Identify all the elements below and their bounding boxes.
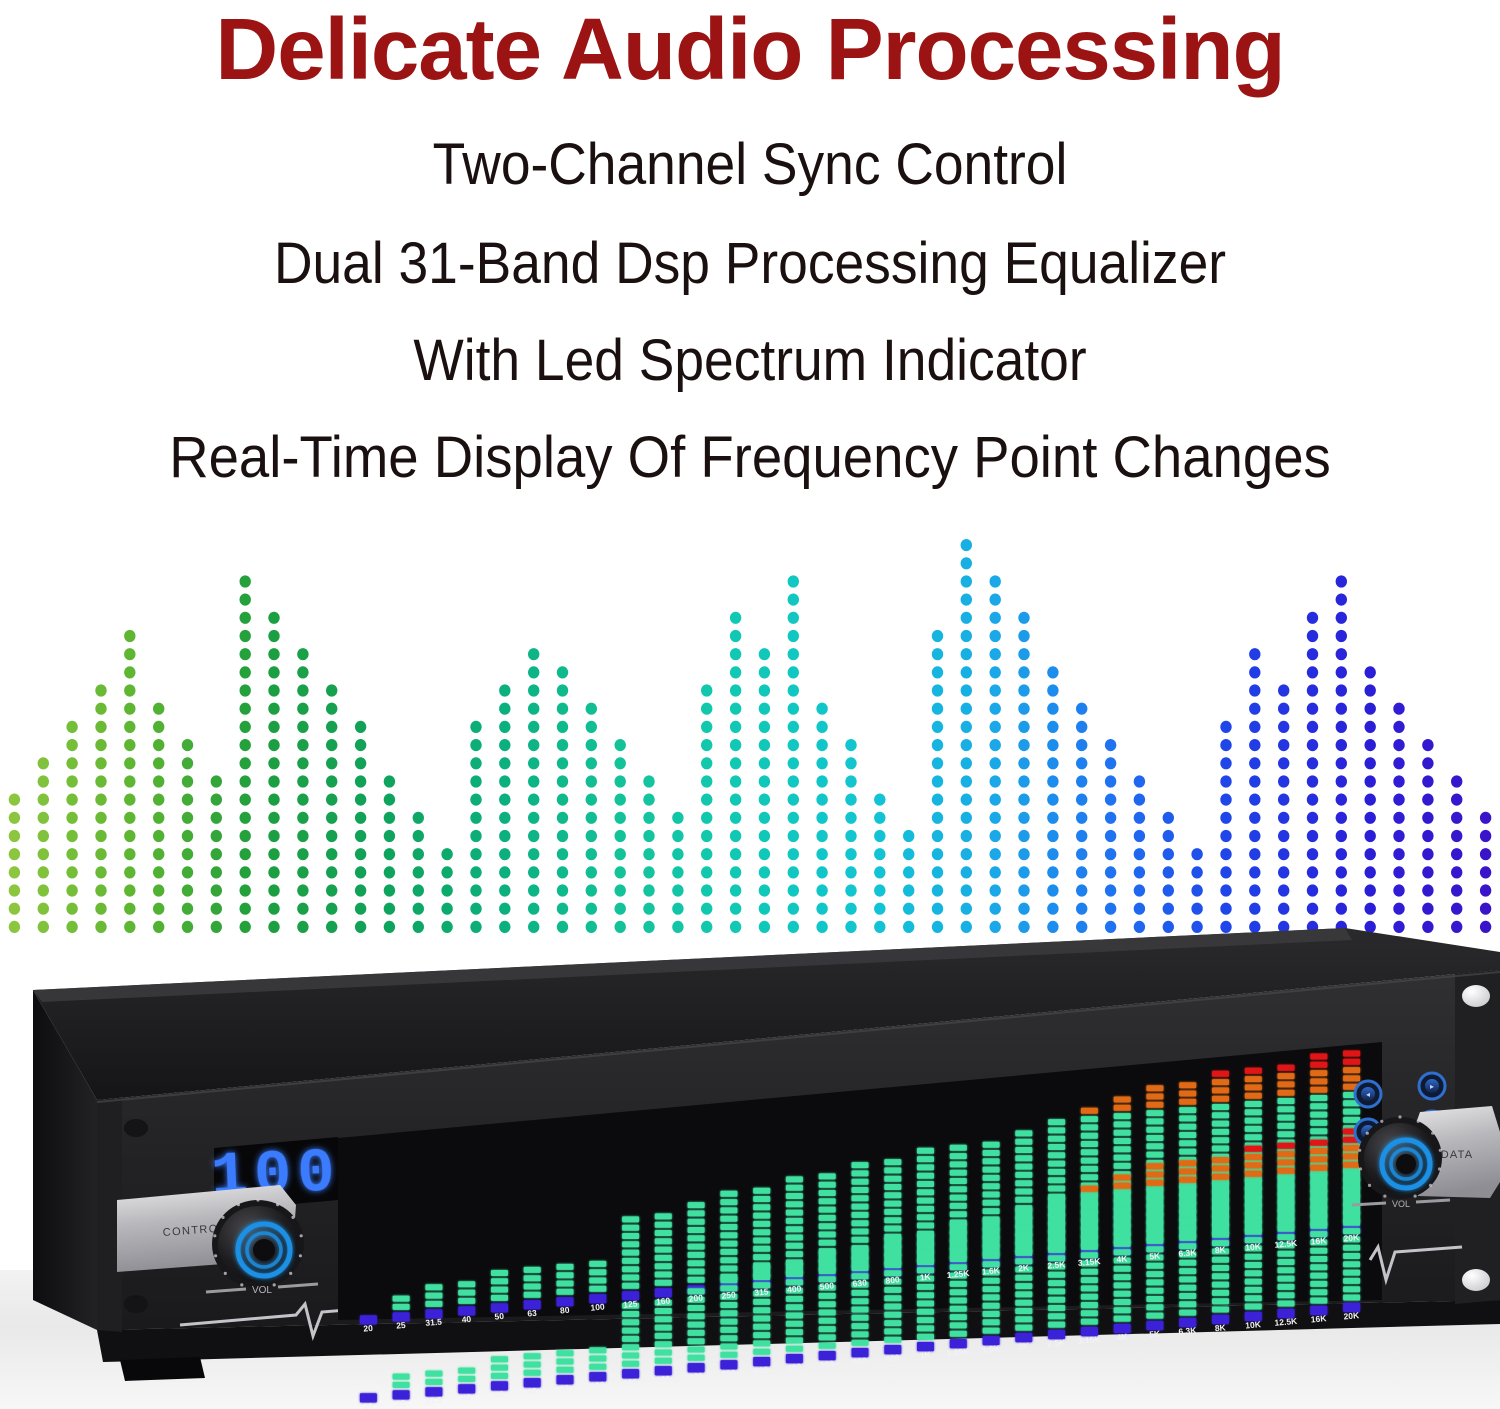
led-segment <box>786 1193 803 1199</box>
spectrum-dot <box>643 884 654 896</box>
spectrum-dot <box>268 775 279 787</box>
spectrum-dot <box>384 775 395 787</box>
frequency-label: 2.5K <box>1047 1337 1067 1349</box>
spectrum-dot <box>701 794 712 806</box>
spectrum-dot <box>1047 739 1058 751</box>
spectrum-dot <box>557 739 568 751</box>
led-segment <box>819 1334 836 1340</box>
spectrum-dot <box>1451 775 1462 787</box>
spectrum-dot <box>701 775 712 787</box>
spectrum-dot <box>788 794 799 806</box>
spectrum-dot <box>1191 848 1202 860</box>
spectrum-dot <box>932 848 943 860</box>
led-segment <box>1179 1091 1196 1097</box>
frequency-label: 40 <box>461 1314 472 1325</box>
spectrum-dot <box>297 739 308 751</box>
spectrum-dot <box>961 866 972 878</box>
spectrum-dot <box>153 703 164 715</box>
feature-line-1: Two-Channel Sync Control <box>60 131 1440 198</box>
led-segment <box>1081 1174 1098 1180</box>
spectrum-dot <box>1047 666 1058 678</box>
led-segment <box>622 1216 639 1222</box>
spectrum-dot <box>643 866 654 878</box>
frequency-label: 1K <box>919 1271 932 1282</box>
led-segment <box>1245 1171 1262 1177</box>
spectrum-dot <box>586 884 597 896</box>
headings-block: Delicate Audio Processing Two-Channel Sy… <box>0 0 1500 540</box>
led-segment <box>1081 1277 1098 1283</box>
led-segment <box>1114 1191 1131 1197</box>
spectrum-dot <box>66 721 77 733</box>
led-segment <box>491 1295 508 1301</box>
spectrum-dot <box>1220 739 1231 751</box>
led-segment <box>917 1259 934 1265</box>
spectrum-dot <box>268 866 279 878</box>
led-segment <box>458 1376 475 1382</box>
spectrum-dot <box>95 775 106 787</box>
spectrum-dot <box>1249 721 1260 733</box>
spectrum-dot <box>153 866 164 878</box>
led-segment <box>884 1209 901 1215</box>
led-segment <box>1212 1224 1229 1230</box>
spectrum-dot <box>816 703 827 715</box>
spectrum-dot <box>1393 866 1404 878</box>
spectrum-dot <box>1365 703 1376 715</box>
led-segment <box>950 1306 967 1312</box>
frequency-label: 4K <box>1116 1331 1129 1342</box>
led-segment <box>852 1323 869 1329</box>
spectrum-dot <box>1249 666 1260 678</box>
led-segment <box>1212 1121 1229 1127</box>
spectrum-dot <box>153 848 164 860</box>
spectrum-dot <box>499 739 510 751</box>
led-segment <box>983 1183 1000 1189</box>
led-segment <box>1146 1118 1163 1124</box>
spectrum-dot <box>1336 594 1347 606</box>
spectrum-dot <box>1018 830 1029 842</box>
spectrum-dot <box>932 812 943 824</box>
spectrum-dot <box>1105 757 1116 769</box>
led-segment <box>1114 1199 1131 1205</box>
spectrum-dot <box>816 757 827 769</box>
spectrum-dot <box>1451 866 1462 878</box>
spectrum-dot <box>441 866 452 878</box>
led-segment <box>1343 1286 1360 1292</box>
spectrum-dot <box>9 830 20 842</box>
frequency-label: 31.5 <box>425 1394 443 1405</box>
led-segment <box>491 1270 508 1276</box>
spectrum-dot <box>586 739 597 751</box>
frequency-label: 40 <box>461 1392 472 1403</box>
spectrum-dot <box>1451 848 1462 860</box>
spectrum-dot <box>1307 648 1318 660</box>
spectrum-dot <box>557 757 568 769</box>
led-segment <box>557 1367 574 1373</box>
led-segment <box>1146 1152 1163 1158</box>
led-segment <box>1179 1285 1196 1291</box>
led-segment <box>491 1278 508 1284</box>
spectrum-dot <box>1076 775 1087 787</box>
led-segment <box>1343 1075 1360 1081</box>
led-segment <box>786 1226 803 1232</box>
led-segment <box>1343 1212 1360 1218</box>
spectrum-dot <box>124 866 135 878</box>
spectrum-dot <box>1076 739 1087 751</box>
spectrum-dot <box>961 794 972 806</box>
led-segment <box>917 1164 934 1170</box>
led-segment <box>1146 1094 1163 1100</box>
spectrum-dot <box>961 812 972 824</box>
led-segment <box>819 1326 836 1332</box>
led-segment <box>1146 1188 1163 1194</box>
spectrum-dot <box>1278 721 1289 733</box>
knob-tick <box>1366 1132 1369 1135</box>
spectrum-dot <box>1018 866 1029 878</box>
spectrum-dot <box>990 812 1001 824</box>
spectrum-dot <box>9 884 20 896</box>
spectrum-dot <box>557 721 568 733</box>
spectrum-dot <box>297 757 308 769</box>
led-segment <box>1343 1162 1360 1168</box>
spectrum-dot <box>355 794 366 806</box>
led-segment <box>1146 1172 1163 1178</box>
led-segment <box>1310 1103 1327 1109</box>
knob-tick <box>1431 1132 1434 1135</box>
led-segment <box>884 1237 901 1243</box>
knob-tick <box>1383 1195 1386 1198</box>
chassis-foot <box>120 1357 205 1381</box>
spectrum-dot <box>1278 866 1289 878</box>
led-segment <box>1310 1070 1327 1076</box>
spectrum-dot <box>38 812 49 824</box>
led-segment <box>753 1299 770 1305</box>
led-segment <box>1146 1313 1163 1319</box>
led-segment <box>720 1257 737 1263</box>
spectrum-dot <box>961 703 972 715</box>
led-segment <box>917 1223 934 1229</box>
spectrum-dot <box>268 630 279 642</box>
spectrum-dot <box>1393 775 1404 787</box>
led-segment <box>458 1298 475 1304</box>
spectrum-dot <box>845 775 856 787</box>
led-segment <box>1343 1195 1360 1201</box>
product-banner: Delicate Audio Processing Two-Channel Sy… <box>0 0 1500 1409</box>
led-segment <box>1048 1313 1065 1319</box>
frequency-label: 100 <box>590 1301 605 1312</box>
spectrum-dot <box>66 794 77 806</box>
spectrum-dot <box>1336 812 1347 824</box>
led-segment <box>622 1319 639 1325</box>
led-segment <box>1245 1279 1262 1285</box>
led-segment <box>720 1302 737 1308</box>
led-segment <box>1081 1227 1098 1233</box>
led-segment <box>1179 1193 1196 1199</box>
led-segment <box>753 1340 770 1346</box>
led-segment <box>1343 1059 1360 1065</box>
led-segment <box>819 1318 836 1324</box>
led-segment <box>1310 1273 1327 1279</box>
spectrum-dot <box>1047 757 1058 769</box>
spectrum-dot <box>66 812 77 824</box>
led-segment <box>1245 1146 1262 1152</box>
spectrum-dot <box>1480 848 1491 860</box>
led-segment <box>557 1272 574 1278</box>
frequency-label: 31.5 <box>425 1316 443 1327</box>
led-segment <box>753 1246 770 1252</box>
knob-tick <box>1439 1149 1442 1152</box>
spectrum-dot <box>95 684 106 696</box>
spectrum-dot <box>355 775 366 787</box>
led-segment <box>950 1256 967 1262</box>
led-segment <box>819 1190 836 1196</box>
spectrum-dot <box>1018 703 1029 715</box>
spectrum-dot <box>788 812 799 824</box>
led-segment <box>1081 1211 1098 1217</box>
led-segment <box>884 1312 901 1318</box>
spectrum-dot <box>1307 812 1318 824</box>
spectrum-dot <box>932 739 943 751</box>
spectrum-dot <box>470 812 481 824</box>
spectrum-dot <box>1480 830 1491 842</box>
spectrum-dot <box>557 703 568 715</box>
led-segment <box>589 1278 606 1284</box>
led-segment <box>1081 1186 1098 1192</box>
spectrum-dot <box>1393 830 1404 842</box>
spectrum-dot <box>1249 775 1260 787</box>
led-segment <box>753 1307 770 1313</box>
spectrum-dot <box>557 884 568 896</box>
spectrum-dot <box>672 848 683 860</box>
spectrum-dot <box>1134 775 1145 787</box>
spectrum-dot <box>990 830 1001 842</box>
spectrum-dot <box>961 630 972 642</box>
spectrum-dot <box>384 848 395 860</box>
spectrum-dot <box>1191 866 1202 878</box>
led-segment <box>786 1210 803 1216</box>
knob-tick <box>1438 1167 1441 1170</box>
led-segment <box>1245 1254 1262 1260</box>
led-segment <box>688 1202 705 1208</box>
spectrum-dot <box>240 866 251 878</box>
led-segment <box>1310 1248 1327 1254</box>
led-segment <box>1114 1299 1131 1305</box>
spectrum-dot <box>1393 739 1404 751</box>
spectrum-dot <box>730 630 741 642</box>
led-segment <box>1278 1115 1295 1121</box>
led-segment <box>786 1201 803 1207</box>
knob-tick <box>240 1283 243 1286</box>
led-segment <box>1245 1162 1262 1168</box>
led-segment <box>425 1284 442 1290</box>
led-segment <box>884 1176 901 1182</box>
led-segment <box>1245 1204 1262 1210</box>
spectrum-dot <box>1307 721 1318 733</box>
spectrum-dot <box>730 739 741 751</box>
spectrum-dot <box>153 757 164 769</box>
led-segment <box>1212 1298 1229 1304</box>
spectrum-dot <box>932 884 943 896</box>
led-segment <box>1343 1145 1360 1151</box>
knob-tick <box>221 1216 224 1219</box>
led-segment <box>819 1240 836 1246</box>
led-segment <box>819 1232 836 1238</box>
spectrum-dot <box>874 812 885 824</box>
led-segment <box>884 1167 901 1173</box>
led-segment <box>819 1207 836 1213</box>
spectrum-dot <box>326 684 337 696</box>
led-segment <box>1212 1273 1229 1279</box>
led-segment <box>1114 1146 1131 1152</box>
led-segment <box>557 1264 574 1270</box>
spectrum-dot <box>95 848 106 860</box>
led-segment <box>1278 1131 1295 1137</box>
led-segment <box>950 1231 967 1237</box>
led-segment <box>983 1245 1000 1251</box>
spectrum-dot <box>499 848 510 860</box>
spectrum-dot <box>932 830 943 842</box>
spectrum-dot <box>182 812 193 824</box>
led-segment <box>688 1322 705 1328</box>
led-segment <box>1081 1116 1098 1122</box>
spectrum-dot <box>816 739 827 751</box>
spectrum-dot <box>1307 848 1318 860</box>
led-segment <box>917 1301 934 1307</box>
spectrum-dot <box>1047 830 1058 842</box>
spectrum-dot <box>961 666 972 678</box>
led-segment <box>1343 1245 1360 1251</box>
led-segment <box>557 1350 574 1356</box>
spectrum-dot <box>1451 830 1462 842</box>
spectrum-dot <box>990 684 1001 696</box>
spectrum-dot <box>326 775 337 787</box>
spectrum-dot <box>384 866 395 878</box>
led-segment <box>1114 1274 1131 1280</box>
spectrum-dot <box>615 812 626 824</box>
led-segment <box>622 1361 639 1367</box>
spectrum-dot <box>1278 812 1289 824</box>
spectrum-dot <box>961 721 972 733</box>
spectrum-dot <box>1422 757 1433 769</box>
spectrum-dot <box>1365 739 1376 751</box>
spectrum-dot <box>643 812 654 824</box>
led-segment <box>1310 1128 1327 1134</box>
led-segment <box>1278 1292 1295 1298</box>
frequency-label: 315 <box>754 1286 769 1297</box>
led-segment <box>819 1251 836 1257</box>
led-segment <box>917 1189 934 1195</box>
led-segment <box>1310 1215 1327 1221</box>
spectrum-dot <box>182 830 193 842</box>
led-segment <box>1179 1107 1196 1113</box>
led-segment <box>983 1294 1000 1300</box>
led-segment <box>1114 1224 1131 1230</box>
spectrum-dot <box>1278 830 1289 842</box>
spectrum-dot <box>1336 666 1347 678</box>
led-segment <box>1048 1205 1065 1211</box>
spectrum-dot <box>1365 812 1376 824</box>
spectrum-dot <box>1422 812 1433 824</box>
spectrum-dot <box>268 757 279 769</box>
led-segment <box>917 1317 934 1323</box>
frequency-label: 63 <box>527 1386 538 1397</box>
led-segment <box>1114 1291 1131 1297</box>
led-segment <box>1081 1319 1098 1325</box>
led-segment <box>852 1248 869 1254</box>
spectrum-dot <box>1307 703 1318 715</box>
led-segment <box>1310 1140 1327 1146</box>
frequency-label: 250 <box>721 1367 736 1378</box>
led-segment <box>720 1216 737 1222</box>
led-segment <box>1310 1112 1327 1118</box>
led-segment <box>1245 1134 1262 1140</box>
led-segment <box>1278 1143 1295 1149</box>
spectrum-dot <box>961 848 972 860</box>
led-segment <box>1179 1140 1196 1146</box>
spectrum-dot <box>66 775 77 787</box>
led-segment <box>852 1212 869 1218</box>
led-segment <box>524 1267 541 1273</box>
spectrum-dot <box>95 866 106 878</box>
led-segment <box>1310 1264 1327 1270</box>
spectrum-dot <box>1249 830 1260 842</box>
spectrum-dot <box>788 830 799 842</box>
led-segment <box>852 1257 869 1263</box>
led-segment <box>1310 1087 1327 1093</box>
spectrum-dot <box>1191 884 1202 896</box>
led-segment <box>458 1368 475 1374</box>
spectrum-dot <box>1480 812 1491 824</box>
spectrum-dot <box>124 666 135 678</box>
led-segment <box>884 1254 901 1260</box>
led-segment <box>1212 1207 1229 1213</box>
spectrum-dot <box>124 721 135 733</box>
led-segment <box>1114 1163 1131 1169</box>
spectrum-dot <box>124 648 135 660</box>
spectrum-dot <box>240 575 251 587</box>
spectrum-dot <box>326 794 337 806</box>
led-segment <box>1114 1183 1131 1189</box>
led-segment <box>655 1247 672 1253</box>
led-segment <box>852 1307 869 1313</box>
spectrum-dot <box>1076 848 1087 860</box>
spectrum-dot <box>268 794 279 806</box>
spectrum-dot <box>759 684 770 696</box>
led-segment <box>688 1305 705 1311</box>
led-segment <box>1343 1153 1360 1159</box>
frequency-label: 1.25K <box>946 1268 970 1280</box>
led-segment <box>753 1332 770 1338</box>
led-segment <box>1015 1325 1032 1331</box>
spectrum-dot <box>961 575 972 587</box>
spectrum-dot <box>326 848 337 860</box>
spectrum-dot <box>1047 721 1058 733</box>
spectrum-dot <box>586 866 597 878</box>
led-segment <box>1015 1291 1032 1297</box>
led-segment <box>786 1243 803 1249</box>
spectrum-dot <box>788 721 799 733</box>
spectrum-dot <box>1393 721 1404 733</box>
spectrum-dot <box>990 703 1001 715</box>
led-segment <box>884 1184 901 1190</box>
spectrum-dot <box>730 684 741 696</box>
spectrum-dot <box>643 848 654 860</box>
feature-line-3: With Led Spectrum Indicator <box>60 327 1440 394</box>
spectrum-dot <box>990 612 1001 624</box>
led-segment <box>1179 1149 1196 1155</box>
led-segment <box>1212 1307 1229 1313</box>
led-segment <box>1015 1155 1032 1161</box>
frequency-label: 1K <box>919 1349 932 1360</box>
